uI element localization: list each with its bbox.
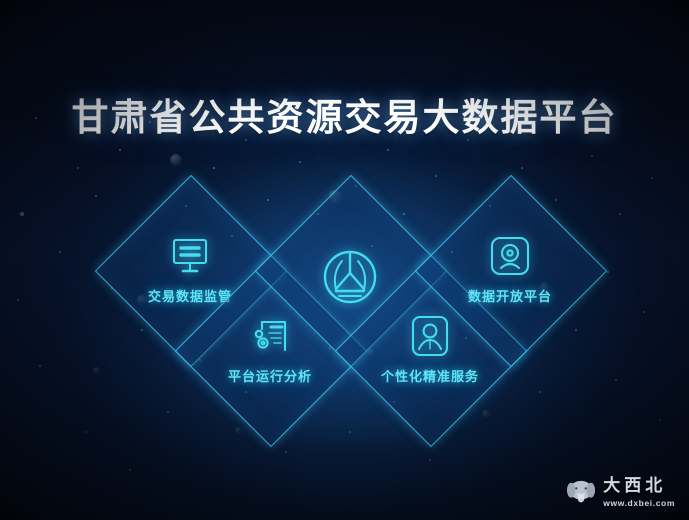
- diamond-grid: 交易数据监管平台运行分析个性化精准服务数据开放平台: [0, 0, 689, 520]
- code-gears-icon: [240, 306, 300, 366]
- slide-canvas: 交易数据监管平台运行分析个性化精准服务数据开放平台 甘肃省公共资源交易大数据平台…: [0, 0, 689, 520]
- data-node-icon: [480, 226, 540, 286]
- watermark-url: www.dxbei.com: [603, 499, 675, 508]
- elephant-head-icon: [566, 478, 596, 508]
- page-title: 甘肃省公共资源交易大数据平台: [0, 87, 689, 141]
- diamond-label: 平台运行分析: [228, 366, 312, 385]
- user-portrait-icon: [400, 306, 460, 366]
- diamond-label: 个性化精准服务: [381, 366, 479, 385]
- monitor-board-icon: [160, 226, 220, 286]
- watermark-brand: 大西北: [603, 478, 675, 495]
- diamond-label: 交易数据监管: [148, 286, 232, 305]
- diamond-label: 数据开放平台: [468, 286, 552, 305]
- watermark-text: 大西北 www.dxbei.com: [603, 478, 675, 508]
- platform-emblem-icon: [313, 240, 387, 314]
- watermark: 大西北 www.dxbei.com: [566, 478, 675, 508]
